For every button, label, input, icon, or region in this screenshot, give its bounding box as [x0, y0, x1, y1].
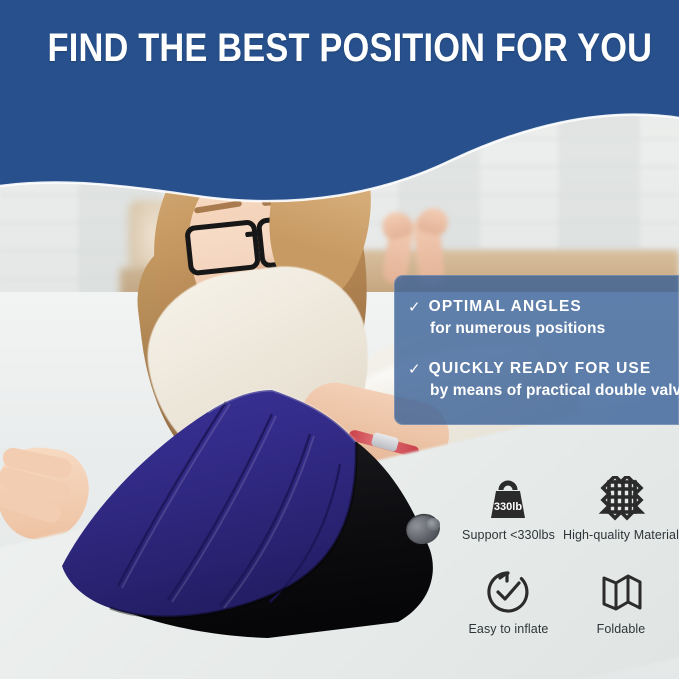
feature-item-quickly-ready: ✓ QUICKLY READY FOR USE by means of prac…	[408, 359, 679, 400]
icon-feature-support: 330lb Support <330lbs	[458, 474, 559, 556]
weight-icon: 330lb	[483, 474, 533, 524]
feature-title: QUICKLY READY FOR USE	[429, 359, 652, 379]
product-marketing-image: FIND THE BEST POSITION FOR YOU ✓ OPTIMAL…	[0, 0, 679, 679]
icon-label: High-quality Material	[563, 528, 679, 542]
lens-left	[184, 219, 261, 276]
feature-subtitle: for numerous positions	[430, 320, 605, 338]
check-icon: ✓	[408, 362, 422, 377]
fabric-mesh-icon	[597, 474, 645, 524]
icon-feature-grid: 330lb Support <330lbs	[458, 474, 679, 649]
icon-label: Easy to inflate	[468, 622, 548, 636]
icon-feature-foldable: Foldable	[563, 568, 679, 650]
folded-map-icon	[597, 568, 645, 618]
feature-title-row: ✓ OPTIMAL ANGLES	[408, 297, 605, 317]
icon-label: Support <330lbs	[462, 528, 555, 542]
feature-callout-box: ✓ OPTIMAL ANGLES for numerous positions …	[394, 275, 679, 425]
inflatable-wedge-pillow	[58, 388, 458, 663]
weight-badge-text: 330lb	[494, 501, 522, 513]
feature-item-optimal-angles: ✓ OPTIMAL ANGLES for numerous positions	[408, 297, 605, 338]
feature-title-row: ✓ QUICKLY READY FOR USE	[408, 359, 679, 379]
feature-title: OPTIMAL ANGLES	[429, 297, 582, 317]
air-valve-cap	[426, 518, 440, 531]
feature-subtitle: by means of practical double valve	[430, 382, 679, 400]
check-icon: ✓	[408, 300, 422, 315]
icon-feature-inflate: Easy to inflate	[458, 568, 559, 650]
icon-label: Foldable	[597, 622, 646, 636]
inflate-clock-icon	[484, 568, 532, 618]
icon-feature-material: High-quality Material	[563, 474, 679, 556]
